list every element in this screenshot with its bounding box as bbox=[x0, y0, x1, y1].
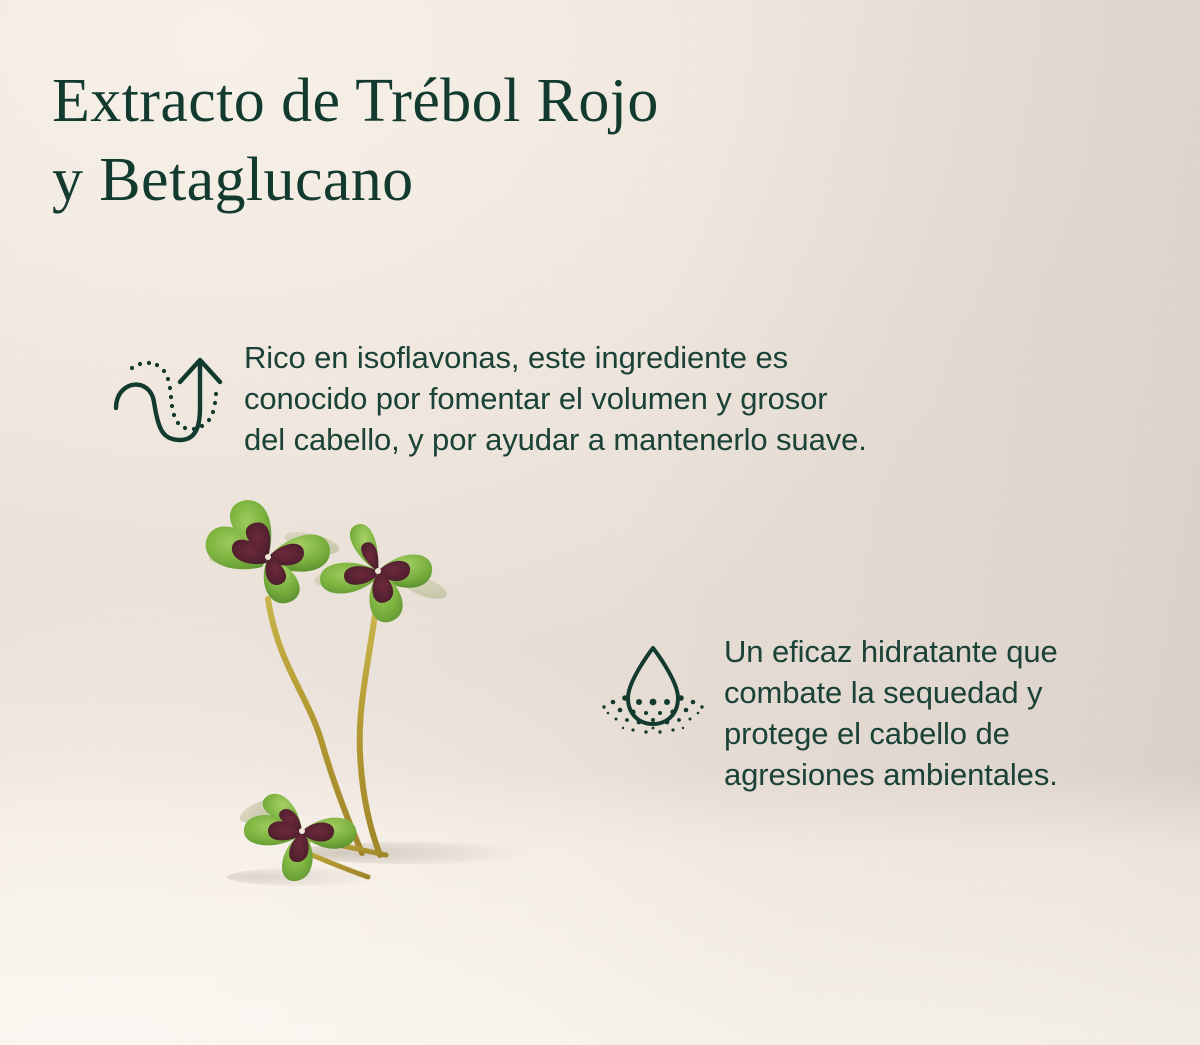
clover-leaf-upper-right bbox=[313, 524, 450, 622]
feature-volume: Rico en isoflavonas, este ingrediente es… bbox=[110, 338, 1010, 461]
clover-leaf-upper-left bbox=[206, 500, 342, 603]
clover-photograph bbox=[190, 495, 550, 915]
feature-volume-text: Rico en isoflavonas, este ingrediente es… bbox=[244, 338, 1004, 461]
poster-canvas: Extracto de Trébol Rojo y Betaglucano bbox=[0, 0, 1200, 1045]
feature-hydration-text: Un eficaz hidratante que combate la sequ… bbox=[724, 632, 1144, 796]
curved-arrow-dotted-trail bbox=[130, 361, 218, 431]
water-droplet-icon bbox=[592, 640, 714, 749]
droplet-spray-dots bbox=[602, 695, 703, 734]
curved-up-arrow-icon bbox=[110, 346, 226, 455]
feature-hydration: Un eficaz hidratante que combate la sequ… bbox=[592, 632, 1152, 796]
page-title: Extracto de Trébol Rojo y Betaglucano bbox=[52, 62, 952, 221]
